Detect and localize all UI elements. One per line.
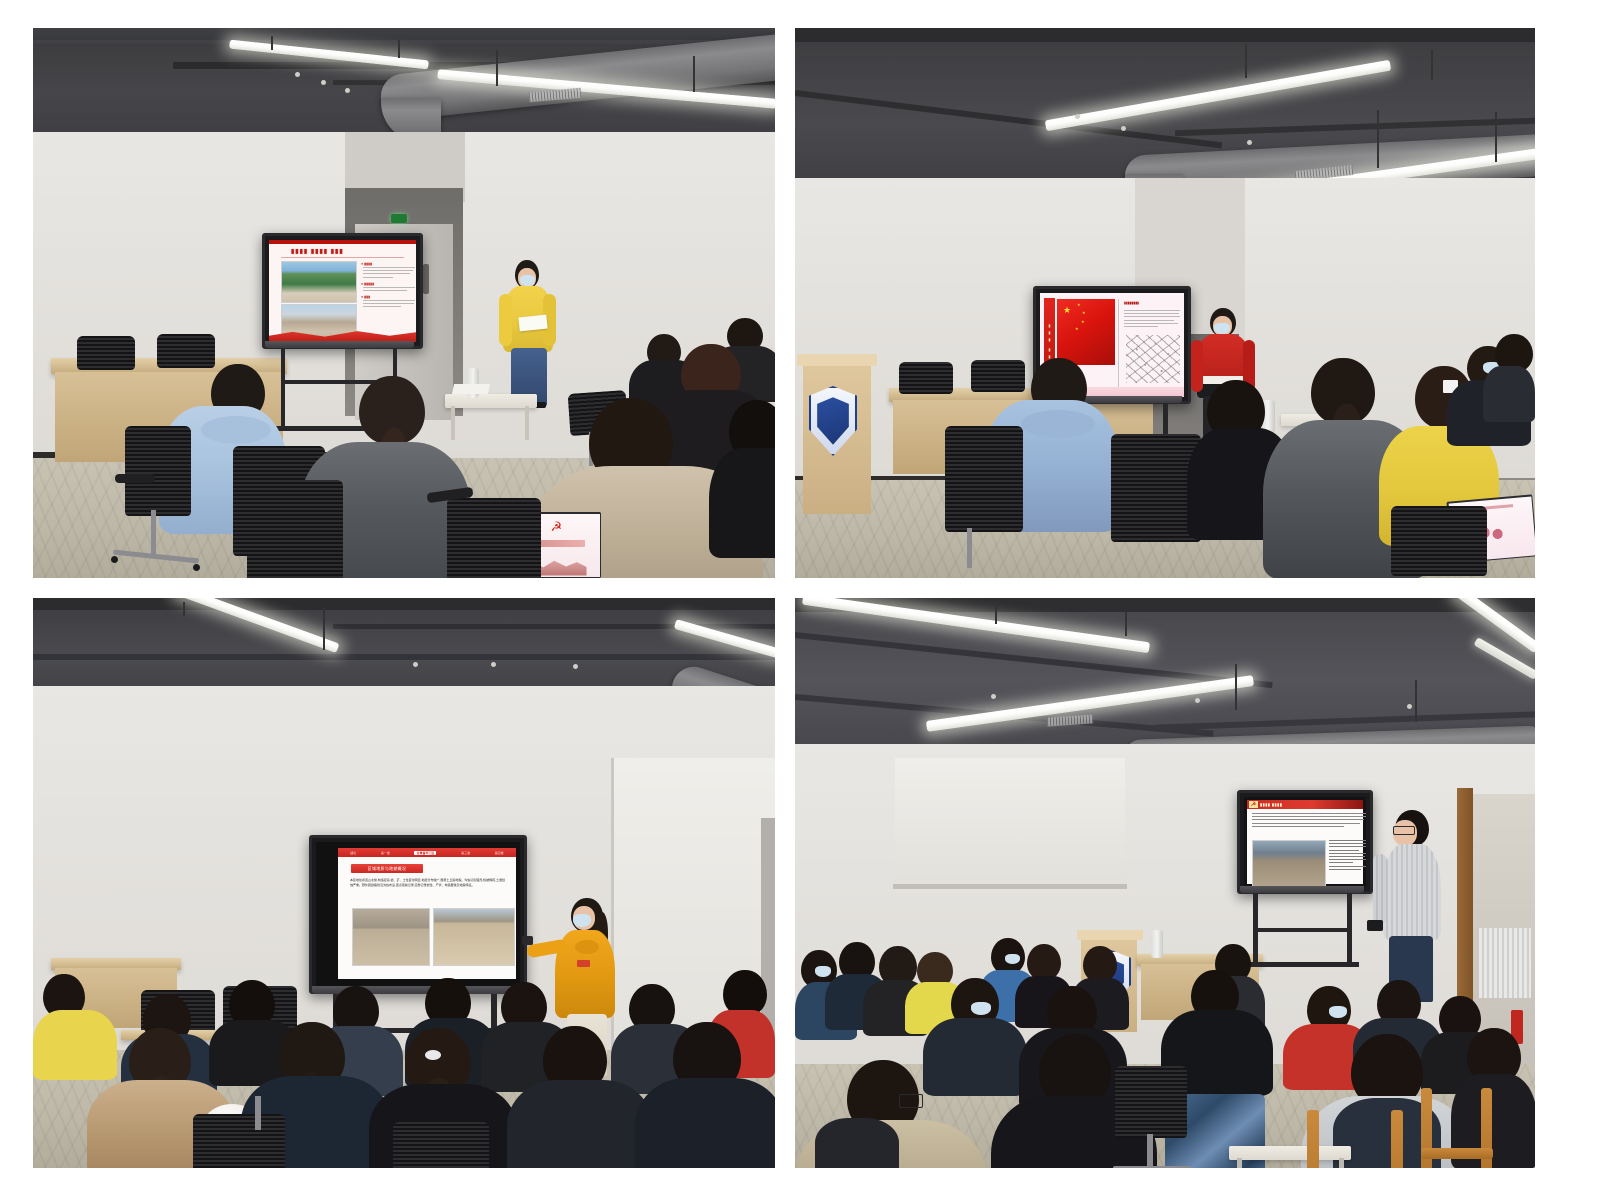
display-stand xyxy=(281,348,285,428)
photo-panel-top-right: ▮▮▮ ▮▮▮ ★ ★ ★ ★ ★ ▮▮▮▮▮▮▮▮ xyxy=(795,28,1535,578)
presenter-chest-logo xyxy=(577,960,590,967)
slide-tab-2-active: 甘肃省甲工区 xyxy=(414,851,436,855)
slide-photo-plain xyxy=(433,908,515,966)
presenter-papers xyxy=(518,315,547,332)
wall-display-main: 绪论 第一章 甘肃省甲工区 第三章 第四章 区域地质与地貌概况 本区地处祁连山北… xyxy=(309,835,527,994)
presenter-grey-shirt xyxy=(1383,844,1441,940)
photo-panel-bottom-right: ☭ ▮▮▮▮ ▮▮▮▮ xyxy=(795,598,1535,1168)
presentation-clicker xyxy=(1367,920,1383,931)
slide-tab-3: 第三章 xyxy=(461,851,470,855)
slide-nav-tabs: 绪论 第一章 甘肃省甲工区 第三章 第四章 xyxy=(338,848,516,857)
face-mask xyxy=(1214,323,1230,334)
projection-screen-box xyxy=(895,758,1125,888)
slide-tab-1: 第一章 xyxy=(381,851,390,855)
wall-display: ▮▮▮▮ ▮▮▮▮ ▮▮▮ ● ▮▮▮▮ ● ▮▮▮▮▮ xyxy=(262,233,423,349)
eyeglasses xyxy=(899,1094,923,1108)
slide-header-bar: ☭ ▮▮▮▮ ▮▮▮▮ xyxy=(1247,800,1363,809)
slide-paragraph-block xyxy=(1252,813,1366,829)
slide-photo-outcrop xyxy=(352,908,430,966)
slide-tab-0: 绪论 xyxy=(350,851,356,855)
slide-panel-4: ☭ ▮▮▮▮ ▮▮▮▮ xyxy=(1247,800,1363,884)
photo-panel-top-left: ▮▮▮▮ ▮▮▮▮ ▮▮▮ ● ▮▮▮▮ ● ▮▮▮▮▮ xyxy=(33,28,775,578)
wooden-chair-2 xyxy=(1421,1088,1493,1168)
wall-radiator xyxy=(1479,928,1531,998)
side-table xyxy=(445,394,537,408)
wall-display: ☭ ▮▮▮▮ ▮▮▮▮ xyxy=(1237,790,1373,894)
party-emblem-icon: ☭ xyxy=(551,520,563,533)
slide-title: ▮▮▮▮ ▮▮▮▮ ▮▮▮ xyxy=(291,247,406,256)
slide-photo-coast xyxy=(281,261,357,303)
slide-diagram xyxy=(1126,335,1180,383)
photo-collage: ▮▮▮▮ ▮▮▮▮ ▮▮▮ ● ▮▮▮▮ ● ▮▮▮▮▮ xyxy=(0,0,1600,1200)
slide-tab-4: 第四章 xyxy=(495,851,504,855)
exit-sign xyxy=(391,214,407,223)
slide-header-label: ▮▮▮▮ ▮▮▮▮ xyxy=(1260,802,1282,807)
eyeglasses xyxy=(1393,826,1415,835)
wooden-chair-1 xyxy=(1307,1110,1403,1168)
slide-photo-fieldwork xyxy=(1252,840,1326,887)
slide-section-badge: 区域地质与地貌概况 xyxy=(351,864,423,873)
slide-heading: ▮▮▮▮▮▮▮▮ xyxy=(1124,301,1182,306)
face-mask xyxy=(520,275,535,286)
face-mask xyxy=(573,914,591,927)
slide-paragraph: 本区地处祁连山北缘,构造复杂,岩、矿、土性变化明显,地层分布较广,属黄土丘陵地貌… xyxy=(350,878,506,887)
slide-panel-1: ▮▮▮▮ ▮▮▮▮ ▮▮▮ ● ▮▮▮▮ ● ▮▮▮▮▮ xyxy=(269,240,416,342)
slide-panel-3: 绪论 第一章 甘肃省甲工区 第三章 第四章 区域地质与地貌概况 本区地处祁连山北… xyxy=(338,848,516,979)
slide-side-column xyxy=(1329,840,1366,872)
presenter-red-top xyxy=(1197,334,1249,380)
photo-panel-bottom-left: 绪论 第一章 甘肃省甲工区 第三章 第四章 区域地质与地貌概况 本区地处祁连山北… xyxy=(33,598,775,1168)
china-flag-image: ★ ★ ★ ★ ★ xyxy=(1057,299,1115,365)
